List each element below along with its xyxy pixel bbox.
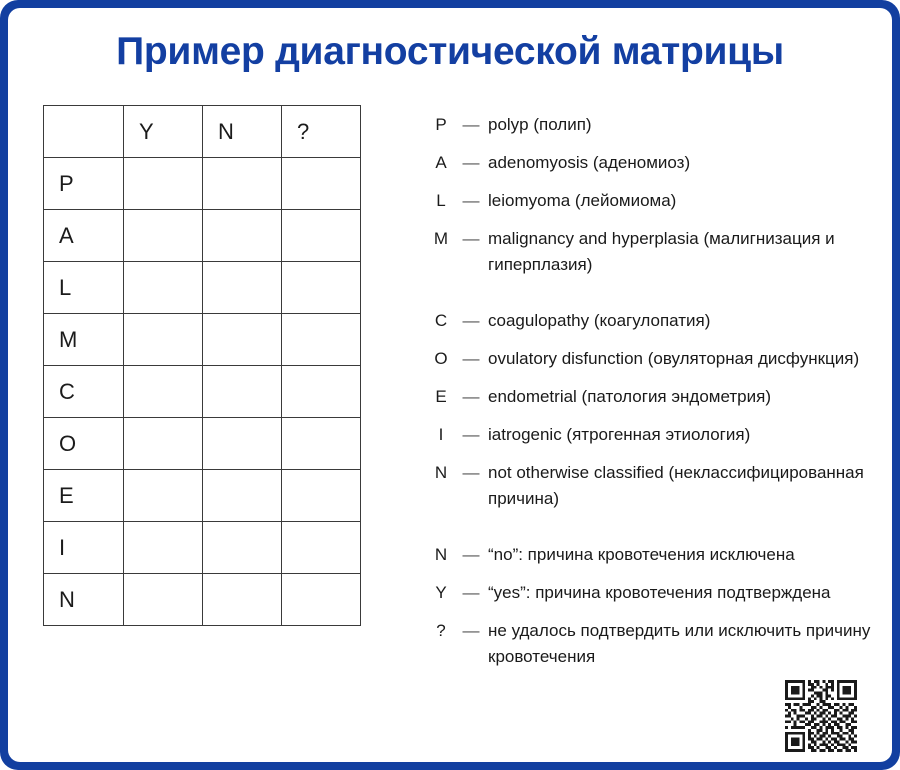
matrix-cell[interactable] xyxy=(282,262,361,314)
legend-text: coagulopathy (коагулопатия) xyxy=(488,308,878,334)
legend-dash: — xyxy=(454,618,488,644)
matrix-cell[interactable] xyxy=(282,158,361,210)
legend-row: P—polyp (полип) xyxy=(428,112,878,138)
matrix-row-label-l-2: L xyxy=(44,262,124,314)
legend-text: malignancy and hyperplasia (малигнизация… xyxy=(488,226,878,278)
matrix-corner-cell xyxy=(44,106,124,158)
legend-key: A xyxy=(428,150,454,176)
legend-group-palm: P—polyp (полип)A—adenomyosis (аденомиоз)… xyxy=(428,112,878,278)
legend-row: O—ovulatory disfunction (овуляторная дис… xyxy=(428,346,878,372)
legend-dash: — xyxy=(454,226,488,252)
legend-dash: — xyxy=(454,346,488,372)
matrix-cell[interactable] xyxy=(282,210,361,262)
legend-dash: — xyxy=(454,580,488,606)
legend-row: I—iatrogenic (ятрогенная этиология) xyxy=(428,422,878,448)
slide-frame: Пример диагностической матрицы YN?PALMCO… xyxy=(0,0,900,770)
matrix-row-label-p-0: P xyxy=(44,158,124,210)
legend-dash: — xyxy=(454,460,488,486)
matrix-cell[interactable] xyxy=(124,210,203,262)
matrix-row-label-i-7: I xyxy=(44,522,124,574)
legend-row: N—“no”: причина кровотечения исключена xyxy=(428,542,878,568)
matrix-row: E xyxy=(44,470,361,522)
legend-row: N—not otherwise classified (неклассифици… xyxy=(428,460,878,512)
matrix-cell[interactable] xyxy=(282,366,361,418)
matrix-column-header-y: Y xyxy=(124,106,203,158)
legend-text: endometrial (патология эндометрия) xyxy=(488,384,878,410)
matrix-cell[interactable] xyxy=(124,314,203,366)
legend-dash: — xyxy=(454,422,488,448)
matrix-row-label-o-5: O xyxy=(44,418,124,470)
legend-row: A—adenomyosis (аденомиоз) xyxy=(428,150,878,176)
legend-row: ?—не удалось подтвердить или исключить п… xyxy=(428,618,878,670)
matrix-row-label-n-8: N xyxy=(44,574,124,626)
matrix-row-label-a-1: A xyxy=(44,210,124,262)
matrix-row: N xyxy=(44,574,361,626)
matrix-cell[interactable] xyxy=(282,574,361,626)
legend-text: adenomyosis (аденомиоз) xyxy=(488,150,878,176)
matrix-body: YN?PALMCOEIN xyxy=(44,106,361,626)
legend-key: Y xyxy=(428,580,454,606)
matrix-row-label-e-6: E xyxy=(44,470,124,522)
matrix-row: I xyxy=(44,522,361,574)
legend-key: E xyxy=(428,384,454,410)
legend-row: M—malignancy and hyperplasia (малигнизац… xyxy=(428,226,878,278)
legend-row: Y—“yes”: причина кровотечения подтвержде… xyxy=(428,580,878,606)
matrix-cell[interactable] xyxy=(124,574,203,626)
legend-dash: — xyxy=(454,112,488,138)
legend-key: L xyxy=(428,188,454,214)
matrix-cell[interactable] xyxy=(203,574,282,626)
matrix-cell[interactable] xyxy=(203,470,282,522)
legend-dash: — xyxy=(454,384,488,410)
matrix-cell[interactable] xyxy=(124,470,203,522)
matrix-cell[interactable] xyxy=(282,522,361,574)
matrix-header-row: YN? xyxy=(44,106,361,158)
matrix-cell[interactable] xyxy=(203,158,282,210)
legend-dash: — xyxy=(454,188,488,214)
matrix-cell[interactable] xyxy=(124,158,203,210)
qr-code[interactable] xyxy=(785,680,857,752)
matrix-row-label-c-4: C xyxy=(44,366,124,418)
matrix-cell[interactable] xyxy=(124,366,203,418)
legend-row: C—coagulopathy (коагулопатия) xyxy=(428,308,878,334)
legend: P—polyp (полип)A—adenomyosis (аденомиоз)… xyxy=(428,112,878,670)
matrix-cell[interactable] xyxy=(203,418,282,470)
legend-group-coein: C—coagulopathy (коагулопатия)O—ovulatory… xyxy=(428,308,878,512)
legend-key: M xyxy=(428,226,454,252)
matrix-row: C xyxy=(44,366,361,418)
legend-text: iatrogenic (ятрогенная этиология) xyxy=(488,422,878,448)
matrix-cell[interactable] xyxy=(124,418,203,470)
matrix-cell[interactable] xyxy=(203,262,282,314)
legend-text: “no”: причина кровотечения исключена xyxy=(488,542,878,568)
legend-key: P xyxy=(428,112,454,138)
legend-dash: — xyxy=(454,542,488,568)
matrix-cell[interactable] xyxy=(203,522,282,574)
matrix-cell[interactable] xyxy=(203,210,282,262)
matrix-cell[interactable] xyxy=(203,314,282,366)
legend-dash: — xyxy=(454,150,488,176)
legend-key: I xyxy=(428,422,454,448)
matrix-cell[interactable] xyxy=(282,314,361,366)
matrix-cell[interactable] xyxy=(203,366,282,418)
legend-key: N xyxy=(428,542,454,568)
page-title: Пример диагностической матрицы xyxy=(8,30,892,74)
legend-row: E—endometrial (патология эндометрия) xyxy=(428,384,878,410)
matrix-cell[interactable] xyxy=(124,522,203,574)
legend-text: not otherwise classified (неклассифициро… xyxy=(488,460,878,512)
legend-key: N xyxy=(428,460,454,486)
matrix-row-label-m-3: M xyxy=(44,314,124,366)
matrix-row: L xyxy=(44,262,361,314)
legend-text: leiomyoma (лейомиома) xyxy=(488,188,878,214)
legend-key: ? xyxy=(428,618,454,644)
legend-row: L—leiomyoma (лейомиома) xyxy=(428,188,878,214)
matrix-column-header-q: ? xyxy=(282,106,361,158)
matrix-column-header-n: N xyxy=(203,106,282,158)
matrix-cell[interactable] xyxy=(282,418,361,470)
legend-dash: — xyxy=(454,308,488,334)
matrix-row: A xyxy=(44,210,361,262)
legend-text: “yes”: причина кровотечения подтверждена xyxy=(488,580,878,606)
matrix-row: P xyxy=(44,158,361,210)
matrix-cell[interactable] xyxy=(124,262,203,314)
diagnostic-matrix-table: YN?PALMCOEIN xyxy=(43,105,361,626)
legend-text: не удалось подтвердить или исключить при… xyxy=(488,618,878,670)
legend-text: ovulatory disfunction (овуляторная дисфу… xyxy=(488,346,878,372)
legend-key: O xyxy=(428,346,454,372)
matrix-cell[interactable] xyxy=(282,470,361,522)
legend-group-answers: N—“no”: причина кровотечения исключенаY—… xyxy=(428,542,878,670)
matrix-row: O xyxy=(44,418,361,470)
matrix-row: M xyxy=(44,314,361,366)
legend-text: polyp (полип) xyxy=(488,112,878,138)
slide-canvas: Пример диагностической матрицы YN?PALMCO… xyxy=(8,8,892,762)
legend-key: C xyxy=(428,308,454,334)
